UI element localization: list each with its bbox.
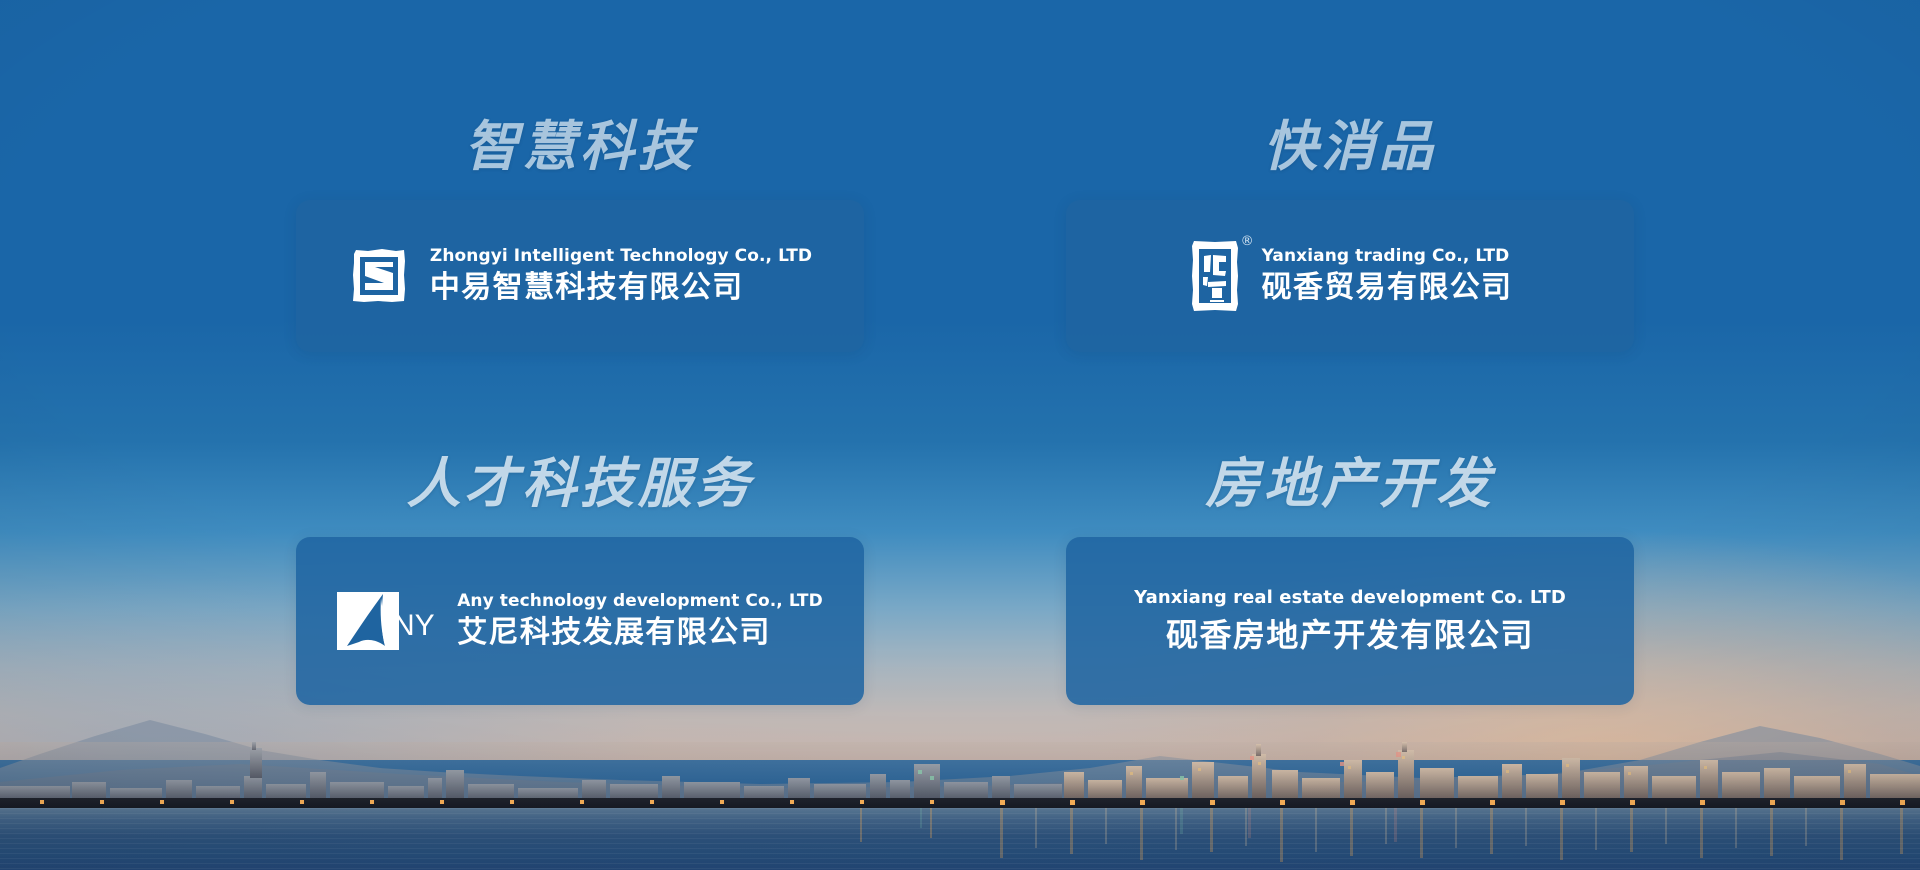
company-name-en-any-technology: Any technology development Co., LTD: [457, 592, 823, 612]
section-heading-talent-services: 人才科技服务: [296, 457, 864, 511]
company-name-cn-yanxiang-trading: 砚香贸易有限公司: [1262, 271, 1513, 306]
company-card-yanxiang-real-estate[interactable]: Yanxiang real estate development Co. LTD…: [1066, 537, 1634, 705]
company-card-yanxiang-trading[interactable]: ® Yanxiang trading Co., LTD 砚香贸易有限公司: [1066, 200, 1634, 352]
yanxiang-seal-logo: ®: [1188, 238, 1242, 314]
company-name-cn-any-technology: 艾尼科技发展有限公司: [457, 616, 823, 651]
svg-text:NY: NY: [393, 609, 435, 642]
company-name-cn-yanxiang-real-estate: 砚香房地产开发有限公司: [1166, 617, 1534, 654]
company-card-zhongyi[interactable]: Zhongyi Intelligent Technology Co., LTD …: [296, 200, 864, 352]
section-heading-fmcg: 快消品: [1066, 120, 1634, 174]
any-technology-logo: NY: [337, 588, 441, 654]
company-name-en-zhongyi: Zhongyi Intelligent Technology Co., LTD: [430, 247, 812, 267]
registered-trademark-icon: ®: [1241, 234, 1254, 249]
business-sectors-grid: 智慧科技 Zhongyi Intelligent Technology Co.,…: [0, 0, 1920, 870]
company-card-any-technology[interactable]: NY Any technology development Co., LTD 艾…: [296, 537, 864, 705]
company-name-cn-zhongyi: 中易智慧科技有限公司: [430, 271, 812, 306]
section-heading-real-estate: 房地产开发: [1066, 457, 1634, 511]
sector-block-smart-technology: 智慧科技 Zhongyi Intelligent Technology Co.,…: [0, 64, 960, 417]
sector-block-talent-services: 人才科技服务 NY Any technology development Co.…: [0, 417, 960, 770]
sector-block-real-estate: 房地产开发 Yanxiang real estate development C…: [960, 417, 1920, 770]
company-name-en-yanxiang-trading: Yanxiang trading Co., LTD: [1262, 247, 1513, 267]
zhongyi-z-seal-logo: [348, 245, 410, 307]
section-heading-smart-technology: 智慧科技: [296, 120, 864, 174]
sector-block-fmcg: 快消品: [960, 64, 1920, 417]
company-name-en-yanxiang-real-estate: Yanxiang real estate development Co. LTD: [1134, 588, 1566, 609]
